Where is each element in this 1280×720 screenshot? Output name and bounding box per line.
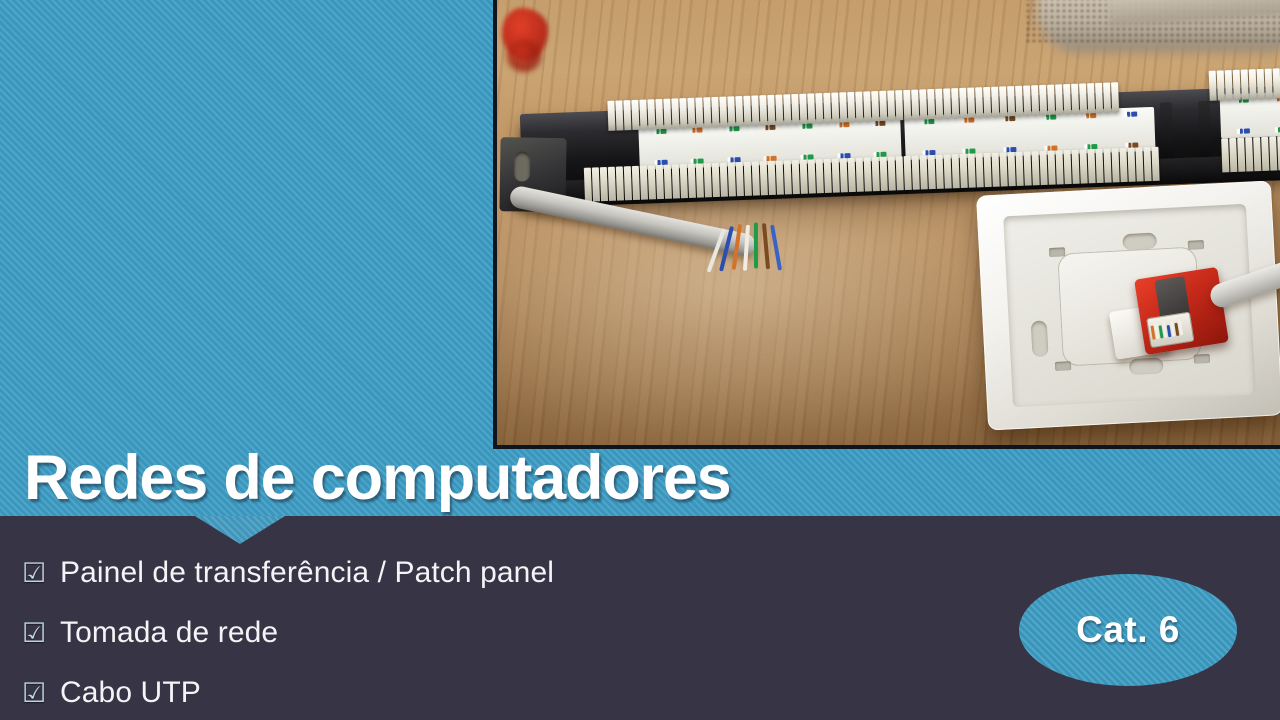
- outlet-keyhole: [1031, 320, 1049, 357]
- presentation-slide: Redes de computadores ☑ Painel de transf…: [0, 0, 1280, 720]
- outlet-screw-tab: [1188, 240, 1204, 250]
- photo-frame: [493, 0, 1280, 449]
- panel-divider: [1198, 101, 1212, 157]
- mounting-slot: [514, 151, 530, 181]
- network-hardware-photo: [497, 0, 1280, 445]
- punch-down-block: [1221, 134, 1280, 173]
- outlet-screw-tab: [1049, 247, 1065, 257]
- list-item: ☑ Tomada de rede: [22, 608, 922, 658]
- checkbox-checked-icon: ☑: [22, 560, 60, 587]
- category-badge-label: Cat. 6: [1076, 609, 1180, 651]
- outlet-faceplate-inner: [1003, 204, 1256, 407]
- checkbox-checked-icon: ☑: [22, 620, 60, 647]
- outlet-screw-tab: [1055, 361, 1071, 371]
- network-wall-outlet: [976, 180, 1280, 430]
- list-item-label: Tomada de rede: [60, 616, 278, 650]
- list-item-label: Cabo UTP: [60, 676, 201, 710]
- colour-code-row: [1223, 94, 1280, 134]
- checkbox-checked-icon: ☑: [22, 680, 60, 707]
- utp-cable-pairs: [720, 226, 792, 285]
- outlet-keyhole: [1122, 233, 1157, 251]
- list-item: ☑ Cabo UTP: [22, 668, 922, 718]
- background-red-object-shadow: [507, 40, 541, 72]
- list-item-label: Painel de transferência / Patch panel: [60, 556, 554, 590]
- category-badge: Cat. 6: [1019, 574, 1237, 686]
- keystone-jack-module: [1120, 266, 1237, 373]
- list-item: ☑ Painel de transferência / Patch panel: [22, 548, 922, 598]
- bullet-list: ☑ Painel de transferência / Patch panel …: [22, 548, 922, 720]
- panel-divider: [1160, 102, 1174, 158]
- punch-down-block: [1209, 64, 1280, 101]
